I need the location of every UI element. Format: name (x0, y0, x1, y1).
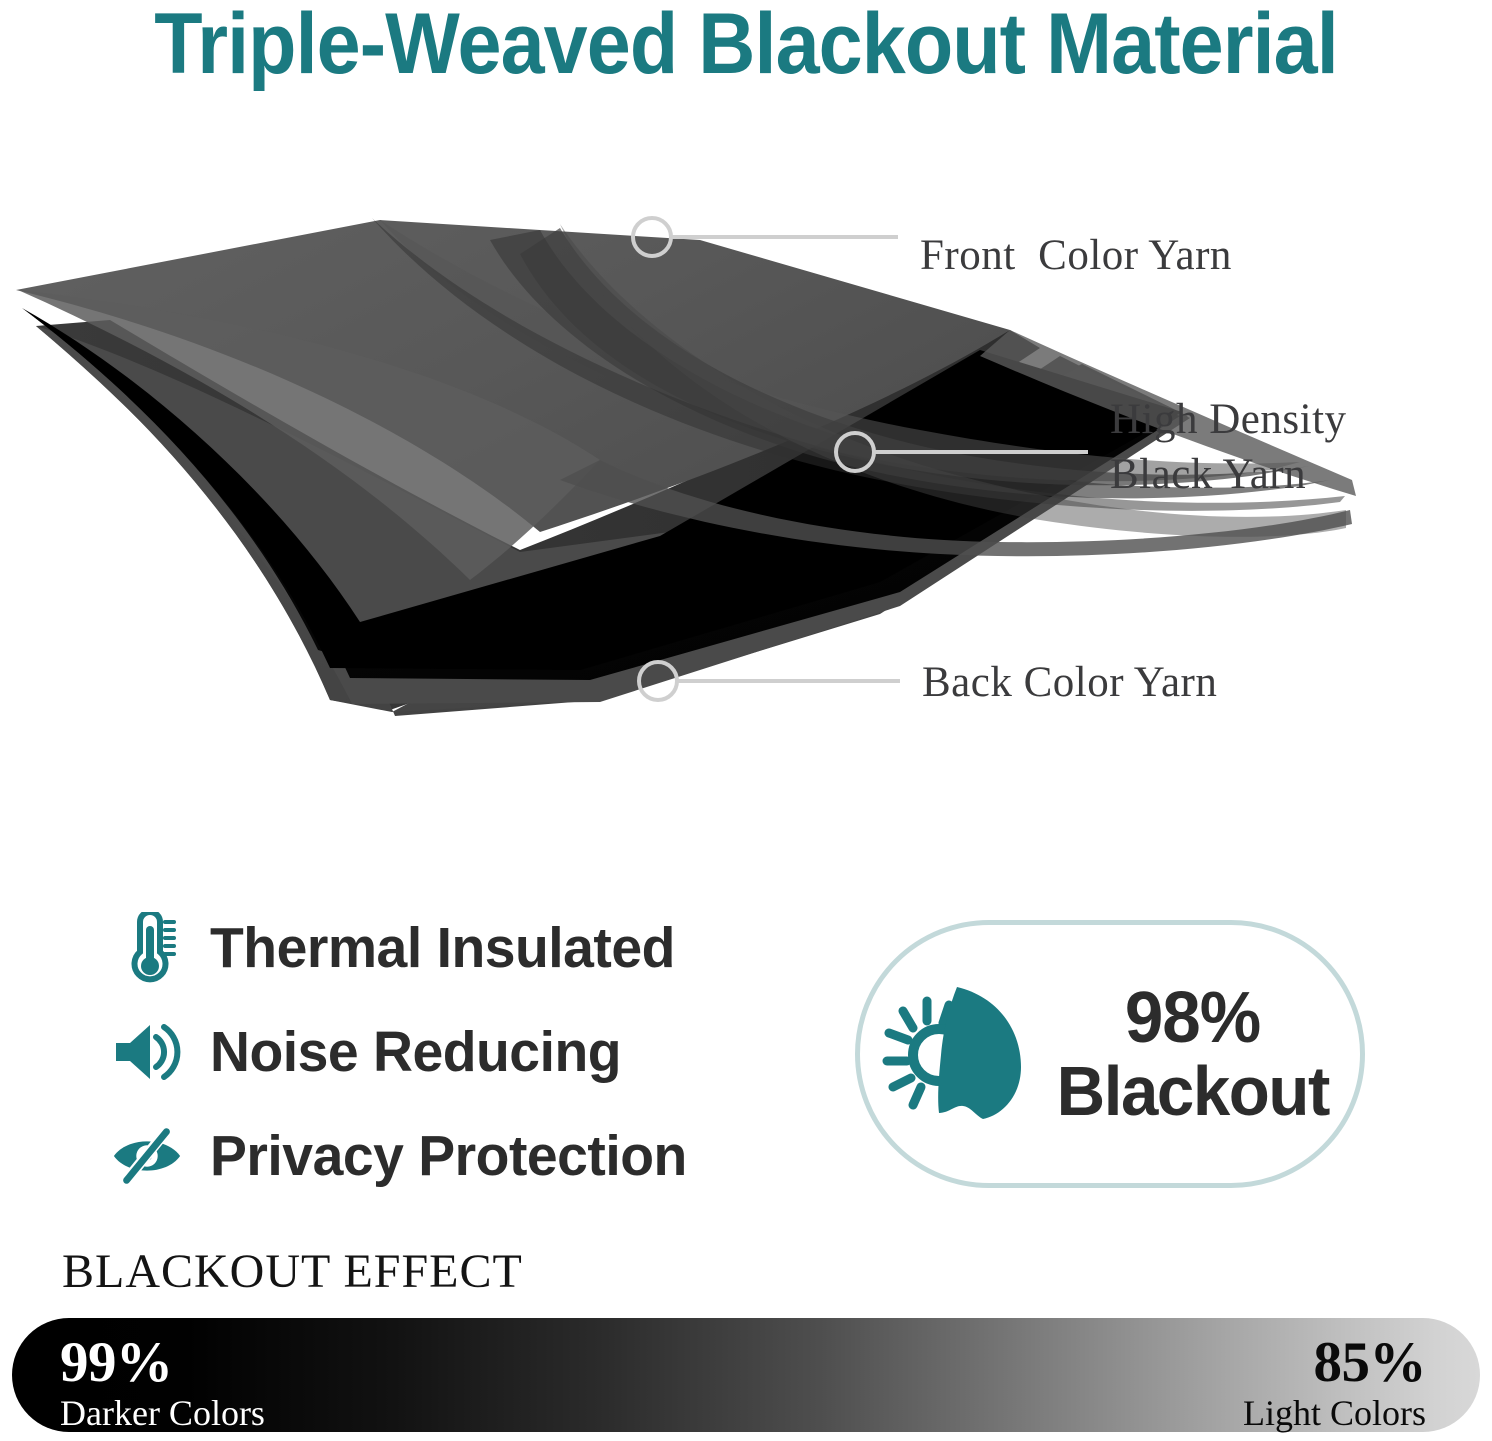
badge-text-group: 98% Blackout (1051, 982, 1335, 1126)
feature-label: Noise Reducing (210, 1019, 621, 1085)
callout-label-front-color-yarn: Front Color Yarn (920, 228, 1232, 283)
light-colors-percent: 85% (1243, 1334, 1426, 1392)
badge-percent-caption: Blackout (1057, 1056, 1329, 1126)
feature-item-privacy-protection: Privacy Protection (110, 1106, 810, 1206)
badge-percent-value: 98% (1125, 982, 1260, 1054)
gradient-bar-light-end-group: 85% Light Colors (1243, 1334, 1426, 1434)
eye-slash-icon (110, 1119, 184, 1193)
gradient-bar-dark-end-group: 99% Darker Colors (60, 1334, 265, 1434)
feature-item-noise-reducing: Noise Reducing (110, 1002, 810, 1102)
page-title: Triple-Weaved Blackout Material (60, 0, 1433, 92)
feature-item-thermal-insulated: Thermal Insulated (110, 898, 810, 998)
blackout-effect-gradient-bar: 99% Darker Colors 85% Light Colors (12, 1318, 1480, 1432)
dark-colors-caption: Darker Colors (60, 1394, 265, 1434)
feature-label: Thermal Insulated (210, 915, 675, 981)
blackout-effect-heading: BLACKOUT EFFECT (62, 1244, 523, 1299)
thermometer-icon (110, 911, 184, 985)
triple-layer-fabric-illustration (0, 180, 1492, 830)
feature-label: Privacy Protection (210, 1123, 687, 1189)
feature-list: Thermal Insulated Noise Reducing (110, 898, 810, 1210)
light-colors-caption: Light Colors (1243, 1394, 1426, 1434)
dark-colors-percent: 99% (60, 1334, 265, 1392)
callout-label-back-color-yarn: Back Color Yarn (922, 655, 1217, 710)
sun-behind-curtain-icon (879, 979, 1029, 1129)
blackout-percentage-badge: 98% Blackout (855, 920, 1365, 1188)
callout-label-high-density-black-yarn: High Density Black Yarn (1110, 392, 1347, 502)
speaker-volume-icon (110, 1015, 184, 1089)
